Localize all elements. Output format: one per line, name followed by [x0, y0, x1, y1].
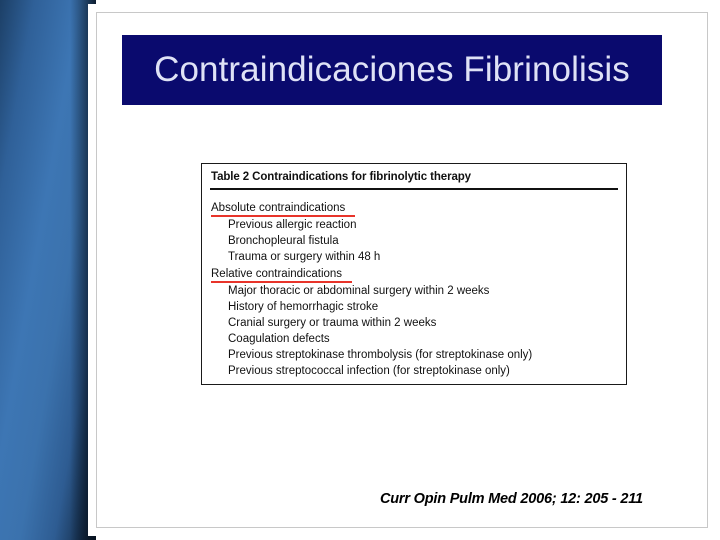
table-row: Previous streptococcal infection (for st… — [211, 363, 626, 379]
table-figure: Table 2 Contraindications for fibrinolyt… — [201, 163, 627, 385]
table-section-heading: Absolute contraindications — [211, 201, 345, 217]
table-row: Previous allergic reaction — [211, 217, 626, 233]
table-section-absolute: Absolute contraindications — [211, 199, 626, 217]
table-caption: Table 2 Contraindications for fibrinolyt… — [202, 164, 626, 188]
slide-title-text: Contraindicaciones Fibrinolisis — [154, 50, 630, 90]
table-row: Major thoracic or abdominal surgery with… — [211, 283, 626, 299]
slide-decoration-band — [0, 0, 96, 540]
table-body: Absolute contraindications Previous alle… — [202, 190, 626, 379]
table-row: Bronchopleural fistula — [211, 233, 626, 249]
table-row: History of hemorrhagic stroke — [211, 299, 626, 315]
table-row: Cranial surgery or trauma within 2 weeks — [211, 315, 626, 331]
source-citation: Curr Opin Pulm Med 2006; 12: 205 - 211 — [380, 491, 643, 507]
table-row: Trauma or surgery within 48 h — [211, 249, 626, 265]
table-section-heading: Relative contraindications — [211, 267, 342, 283]
table-row: Coagulation defects — [211, 331, 626, 347]
presentation-slide: Contraindicaciones Fibrinolisis Table 2 … — [0, 0, 720, 540]
slide-title-bar: Contraindicaciones Fibrinolisis — [122, 35, 662, 105]
table-row: Previous streptokinase thrombolysis (for… — [211, 347, 626, 363]
table-section-relative: Relative contraindications — [211, 265, 626, 283]
